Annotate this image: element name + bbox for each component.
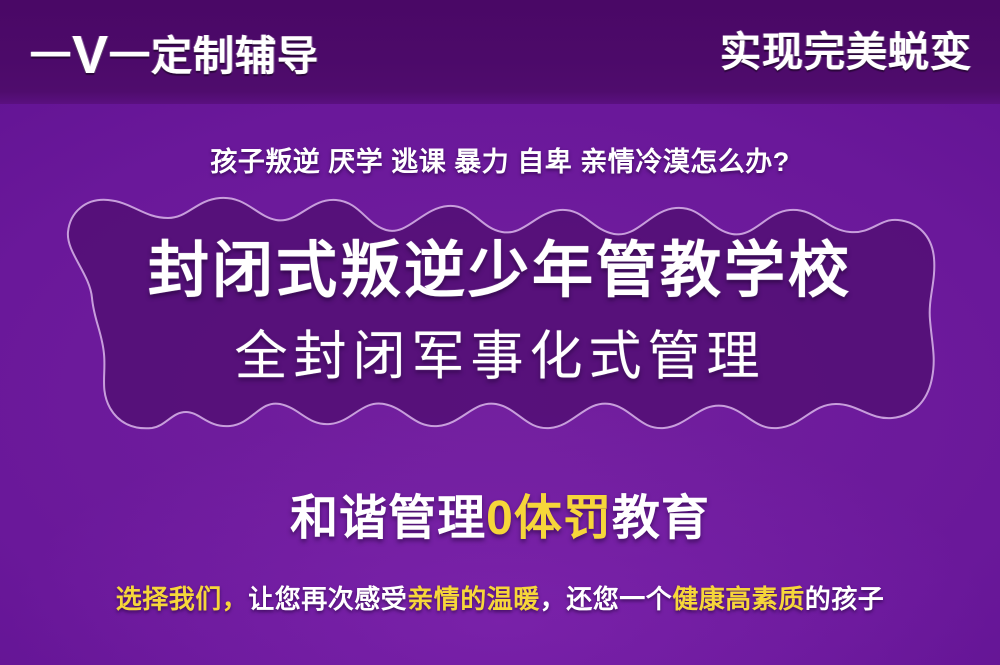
footer-part-5: 健康高素质 [672, 584, 805, 614]
slogan-part-1: 和谐管理 [290, 492, 486, 545]
promo-poster: 一V一定制辅导 实现完美蜕变 孩子叛逆 厌学 逃课 暴力 自卑 亲情冷漠怎么办?… [0, 0, 1000, 665]
footer-part-2: 让您再次感受 [248, 584, 407, 614]
footer-part-6: 的孩子 [805, 584, 885, 614]
footer-line: 选择我们，让您再次感受亲情的温暖，还您一个健康高素质的孩子 [0, 586, 1000, 612]
blob-shape [60, 186, 940, 476]
slogan-part-2: 0体罚 [486, 492, 612, 545]
slogan-line: 和谐管理0体罚教育 [0, 495, 1000, 543]
header-bar-inner: 一V一定制辅导 实现完美蜕变 [0, 0, 1000, 104]
brand-logo-prefix: 一 [30, 36, 72, 77]
brand-logo-suffix: 一定制辅导 [109, 36, 319, 77]
brand-logo: 一V一定制辅导 [30, 25, 319, 79]
header-bar: 一V一定制辅导 实现完美蜕变 [0, 0, 1000, 104]
slogan-part-3: 教育 [612, 492, 710, 545]
header-tagline: 实现完美蜕变 [720, 32, 972, 73]
question-line: 孩子叛逆 厌学 逃课 暴力 自卑 亲情冷漠怎么办? [0, 140, 1000, 179]
blob-shape-container [60, 186, 940, 476]
footer-part-3: 亲情的温暖 [407, 584, 540, 614]
footer-part-1: 选择我们， [116, 584, 249, 614]
brand-logo-v: V [72, 28, 109, 82]
footer-part-4: ，还您一个 [540, 584, 673, 614]
